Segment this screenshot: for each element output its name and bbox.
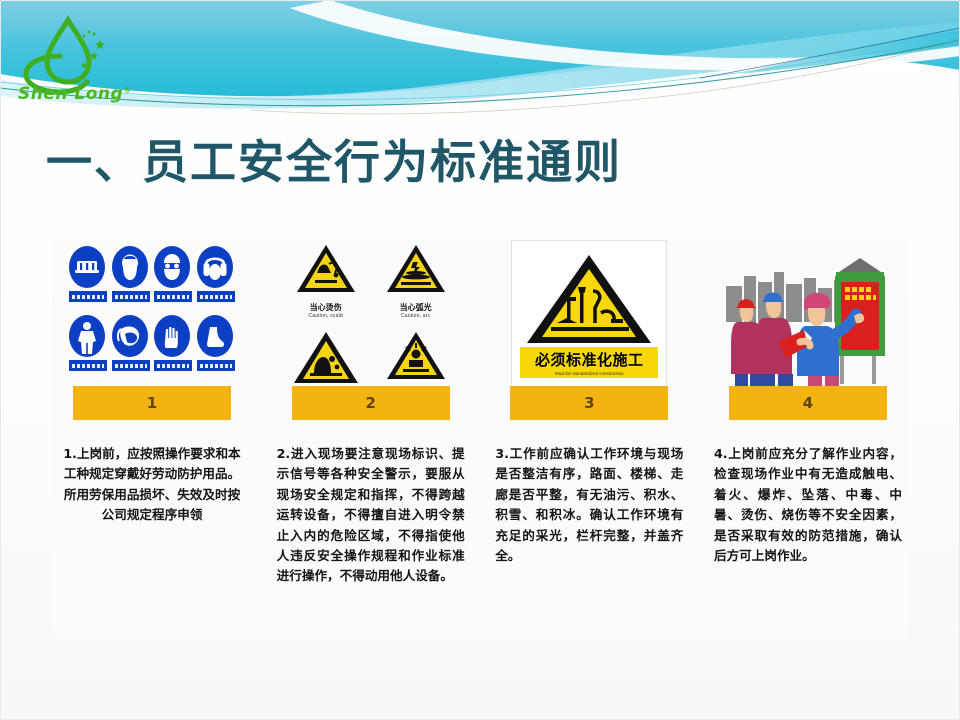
warning-sign-grid: 当心烫伤 Caution, scald <box>281 242 461 392</box>
content-area: 1 1.上岗前，应按照操作要求和本工种规定穿戴好劳动防护用品。所用劳保用品损坏、… <box>52 238 908 638</box>
panel-caption: 1.上岗前，应按照操作要求和本工种规定穿戴好劳动防护用品。所用劳保用品损坏、失效… <box>52 444 252 526</box>
warning-label-en: Caution, scald <box>285 313 367 319</box>
panel-caption: 4.上岗前应充分了解作业内容，检查现场作业中有无造成触电、着火、爆炸、坠落、中毒… <box>708 444 908 566</box>
panel-4-figure: 4 <box>708 238 908 400</box>
ppe-label-bar <box>154 291 192 302</box>
panel-1: 1 1.上岗前，应按照操作要求和本工种规定穿戴好劳动防护用品。所用劳保用品损坏、… <box>52 238 252 587</box>
company-logo: Shen Long® <box>14 12 122 108</box>
panel-number-plate: 4 <box>729 386 887 420</box>
warning-row-top: 当心烫伤 Caution, scald <box>281 242 461 319</box>
ppe-label-bar <box>112 291 150 302</box>
warning-sign-falling-object <box>285 329 367 392</box>
panel-number-plate: 3 <box>510 386 668 420</box>
panel-2: 当心烫伤 Caution, scald <box>271 238 471 587</box>
safety-briefing-illustration <box>708 238 908 400</box>
sign-label: 必须标准化施工 <box>520 347 658 371</box>
ppe-label-bar <box>154 360 192 371</box>
ppe-label-bar <box>197 291 235 302</box>
sign-sublabel: Must be standardized construction <box>520 371 658 378</box>
warning-label-cn: 当心弧光 <box>375 302 457 313</box>
ppe-label-bar <box>197 360 235 371</box>
standardized-construction-sign: 必须标准化施工 Must be standardized constructio… <box>511 240 667 396</box>
header-banner <box>0 0 960 118</box>
ppe-sign-goggles <box>154 246 192 302</box>
presentation-slide: Shen Long® 一、员工安全行为标准通则 <box>0 0 960 720</box>
warning-sign-scald: 当心烫伤 Caution, scald <box>285 242 367 319</box>
warning-row-bottom <box>281 329 461 392</box>
warning-sign-machinery <box>375 329 457 392</box>
panel-number-plate: 2 <box>292 386 450 420</box>
warning-label-en: Caution, arc <box>375 313 457 319</box>
ppe-sign-grid <box>69 246 235 373</box>
ppe-sign-hood <box>112 246 150 302</box>
ppe-label-bar <box>69 291 107 302</box>
panel-3: 必须标准化施工 Must be standardized constructio… <box>489 238 689 587</box>
ppe-sign-gloves <box>154 315 192 371</box>
panel-4: 4 4.上岗前应充分了解作业内容，检查现场作业中有无造成触电、着火、爆炸、坠落、… <box>708 238 908 587</box>
logo-wordmark: Shen Long® <box>18 84 122 104</box>
panel-3-figure: 必须标准化施工 Must be standardized constructio… <box>489 238 689 400</box>
panel-row: 1 1.上岗前，应按照操作要求和本工种规定穿戴好劳动防护用品。所用劳保用品损坏、… <box>52 238 908 587</box>
panel-caption: 3.工作前应确认工作环境与现场是否整洁有序，路面、楼梯、走廊是否平整，有无油污、… <box>489 444 689 566</box>
ppe-sign-helmet <box>69 246 107 302</box>
ppe-sign-respirator <box>112 315 150 371</box>
ppe-row-bottom <box>69 315 235 371</box>
warning-label-cn: 当心烫伤 <box>285 302 367 313</box>
panel-caption: 2.进入现场要注意现场标识、提示信号等各种安全警示，要服从现场安全规定和指挥，不… <box>271 444 471 587</box>
page-title: 一、员工安全行为标准通则 <box>46 126 622 192</box>
ppe-label-bar <box>69 360 107 371</box>
ppe-row-top <box>69 246 235 302</box>
ppe-sign-coverall <box>69 315 107 371</box>
panel-1-figure: 1 <box>52 238 252 400</box>
warning-triangle-icon <box>523 251 655 347</box>
ppe-label-bar <box>112 360 150 371</box>
panel-2-figure: 当心烫伤 Caution, scald <box>271 238 471 400</box>
panel-number-plate: 1 <box>73 386 231 420</box>
ppe-sign-earmuffs <box>197 246 235 302</box>
ppe-sign-boots <box>197 315 235 371</box>
warning-sign-arc: 当心弧光 Caution, arc <box>375 242 457 319</box>
